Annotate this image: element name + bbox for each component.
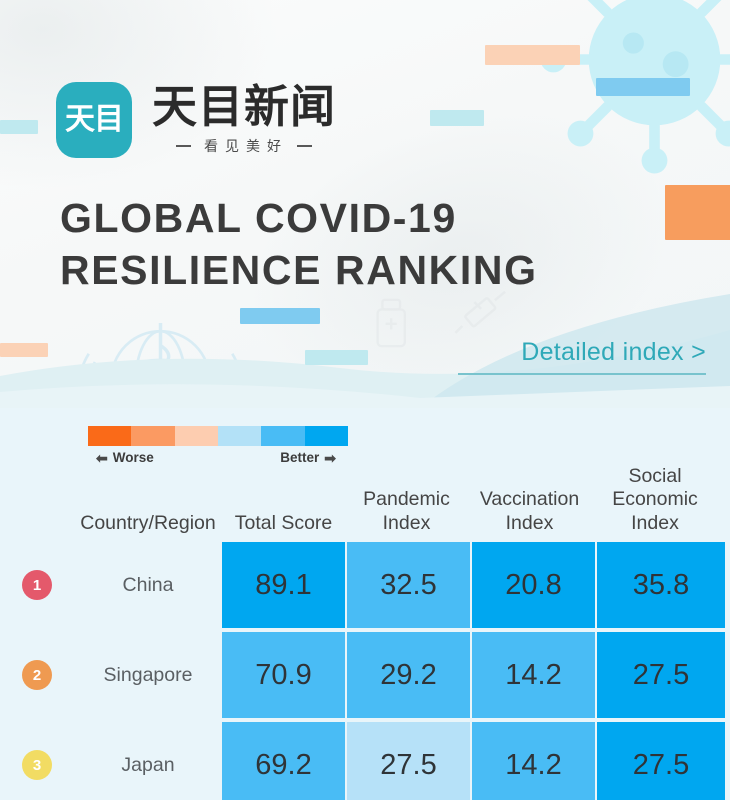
social-economic-index-cell: 27.5 [597, 632, 725, 718]
brand-logo: 天目 天目新闻 看见美好 [56, 82, 336, 158]
legend-better-label: Better [280, 450, 319, 465]
peach-bar-top [485, 45, 580, 65]
column-header-total-score: Total Score [222, 512, 345, 540]
table-row[interactable]: 1China89.132.520.835.8 [0, 542, 730, 628]
legend-swatch-2 [175, 426, 218, 446]
social-economic-index-cell: 27.5 [597, 722, 725, 800]
detailed-index-label: Detailed index > [458, 338, 706, 367]
logo-badge-glyph: 天目 [65, 105, 123, 135]
vaccination-index-cell: 14.2 [472, 722, 595, 800]
vaccination-index-cell: 14.2 [472, 632, 595, 718]
table-row[interactable]: 3Japan69.227.514.227.5 [0, 722, 730, 800]
legend-swatch-3 [218, 426, 261, 446]
detailed-index-link[interactable]: Detailed index > [458, 338, 706, 375]
column-header-country: Country/Region [74, 512, 222, 540]
column-header-social-line2: Economic [612, 488, 698, 510]
legend-swatch-1 [131, 426, 174, 446]
column-header-rank [0, 536, 74, 540]
column-header-social-line1: Social [628, 465, 681, 487]
column-header-vaccination-index: Vaccination Index [468, 488, 591, 540]
column-header-social-economic-index: Social Economic Index [591, 465, 719, 540]
rank-badge: 1 [22, 570, 52, 600]
vaccination-index-cell: 20.8 [472, 542, 595, 628]
rank-cell: 1 [0, 542, 74, 628]
rank-cell: 2 [0, 632, 74, 718]
legend-gradient-bar [88, 426, 348, 446]
peach-bar-left [0, 343, 48, 357]
logo-text-block: 天目新闻 看见美好 [152, 84, 336, 156]
color-scale-legend: ⬅ Worse Better ➡ [88, 426, 348, 470]
column-header-pandemic-line1: Pandemic [363, 488, 450, 510]
total-score-cell: 70.9 [222, 632, 345, 718]
social-economic-index-cell: 35.8 [597, 542, 725, 628]
logo-dash-left [176, 145, 191, 147]
page-title: GLOBAL COVID-19 RESILIENCE RANKING [60, 192, 660, 297]
column-header-vaccination-line2: Index [506, 512, 554, 534]
column-header-pandemic-index: Pandemic Index [345, 488, 468, 540]
pandemic-index-cell: 27.5 [347, 722, 470, 800]
legend-swatch-4 [261, 426, 304, 446]
detailed-index-underline [458, 373, 706, 375]
ranking-table-section: ⬅ Worse Better ➡ Country/Region Total Sc… [0, 408, 730, 800]
blue-bar-mid [240, 308, 320, 324]
logo-subtitle-row: 看见美好 [176, 136, 312, 156]
table-header-row: Country/Region Total Score Pandemic Inde… [0, 466, 730, 540]
hero-header: 天目 天目新闻 看见美好 GLOBAL COVID-19 RESILIENCE … [0, 0, 730, 408]
cyan-bar-far-left [0, 120, 38, 134]
infographic-page: 天目 天目新闻 看见美好 GLOBAL COVID-19 RESILIENCE … [0, 0, 730, 800]
column-header-pandemic-line2: Index [383, 512, 431, 534]
logo-subtitle: 看见美好 [200, 136, 288, 156]
total-score-cell: 69.2 [222, 722, 345, 800]
country-name-cell: China [74, 542, 222, 628]
page-title-line-1: GLOBAL COVID-19 [60, 195, 457, 241]
legend-worse-label: Worse [113, 450, 154, 465]
logo-title: 天目新闻 [152, 84, 336, 131]
legend-swatch-0 [88, 426, 131, 446]
column-header-vaccination-line1: Vaccination [480, 488, 579, 510]
rank-cell: 3 [0, 722, 74, 800]
logo-badge: 天目 [56, 82, 132, 158]
country-name-cell: Singapore [74, 632, 222, 718]
page-title-line-2: RESILIENCE RANKING [60, 244, 660, 296]
cyan-bar-mid [305, 350, 368, 365]
country-name-cell: Japan [74, 722, 222, 800]
orange-block-right [665, 185, 730, 240]
rank-badge: 3 [22, 750, 52, 780]
blue-bar-top [596, 78, 690, 96]
legend-swatch-5 [305, 426, 348, 446]
pandemic-index-cell: 32.5 [347, 542, 470, 628]
table-row[interactable]: 2Singapore70.929.214.227.5 [0, 632, 730, 718]
legend-worse: ⬅ Worse [96, 450, 154, 465]
rank-badge: 2 [22, 660, 52, 690]
total-score-cell: 89.1 [222, 542, 345, 628]
logo-dash-right [297, 145, 312, 147]
table-body: 1China89.132.520.835.82Singapore70.929.2… [0, 542, 730, 800]
arrow-left-icon: ⬅ [96, 451, 108, 465]
legend-better: Better ➡ [280, 450, 336, 465]
arrow-right-icon: ➡ [324, 451, 336, 465]
cyan-bar-left-upper [430, 110, 484, 126]
pandemic-index-cell: 29.2 [347, 632, 470, 718]
column-header-social-line3: Index [631, 512, 679, 534]
